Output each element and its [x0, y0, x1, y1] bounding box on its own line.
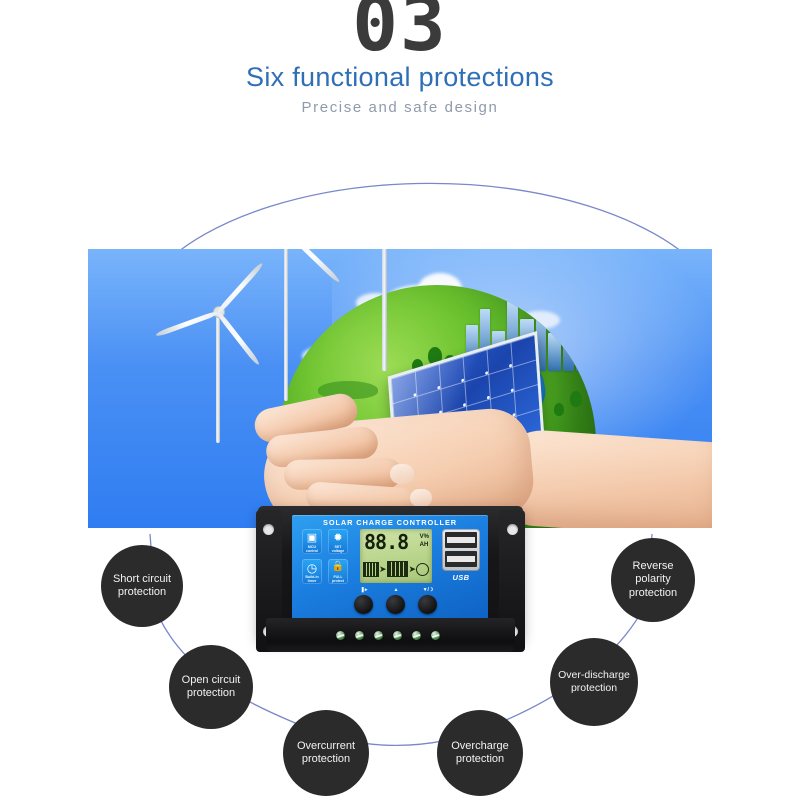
- menu-button[interactable]: [354, 595, 373, 614]
- building: [548, 333, 561, 371]
- protection-bubble-open-circuit[interactable]: Open circuit protection: [169, 645, 253, 729]
- device-title: SOLAR CHARGE CONTROLLER: [292, 518, 488, 527]
- usb-ports[interactable]: [442, 529, 480, 571]
- building: [576, 341, 591, 371]
- terminal-screw: [355, 631, 364, 640]
- mount-hole: [507, 524, 518, 535]
- battery-icon: [387, 561, 409, 577]
- protection-bubble-reverse-polarity[interactable]: Reverse polarity protection: [611, 538, 695, 622]
- gear-icon: ✹ SET voltage: [328, 529, 348, 554]
- fingernail: [410, 489, 432, 507]
- lock-icon: 🔒 FULL protect: [328, 559, 348, 584]
- down-night-button[interactable]: [418, 595, 437, 614]
- menu-button-label: ❚▸: [356, 587, 372, 593]
- lcd-flow-row: ➤ ➤: [363, 559, 429, 579]
- protection-bubble-short-circuit[interactable]: Short circuit protection: [101, 545, 183, 627]
- terminal-screw: [374, 631, 383, 640]
- device-faceplate: SOLAR CHARGE CONTROLLER ▣ MCU control ✹ …: [292, 515, 488, 619]
- terminal-screw: [393, 631, 402, 640]
- page-subtitle: Precise and safe design: [0, 99, 800, 116]
- hero-image: [88, 249, 712, 528]
- terminal-strip: [266, 618, 515, 652]
- usb-port-1[interactable]: [445, 532, 477, 548]
- terminal-screw: [412, 631, 421, 640]
- section-number: 03: [0, 0, 800, 62]
- mount-hole: [263, 524, 274, 535]
- protection-bubble-overcharge[interactable]: Overcharge protection: [437, 710, 523, 796]
- page-title: Six functional protections: [0, 62, 800, 93]
- clock-icon: ◷ Build-in timer: [302, 559, 322, 584]
- arrow-right-icon: ➤: [379, 565, 387, 574]
- solar-charge-controller: SOLAR CHARGE CONTROLLER ▣ MCU control ✹ …: [258, 506, 523, 656]
- infographic-page: 03 Six functional protections Precise an…: [0, 0, 800, 800]
- tree-icon: [554, 403, 564, 416]
- protection-bubble-over-discharge[interactable]: Over-discharge protection: [550, 638, 638, 726]
- up-button-label: ▲: [388, 587, 404, 593]
- usb-label: USB: [438, 573, 484, 582]
- usb-port-2[interactable]: [445, 551, 477, 567]
- arrow-right-icon: ➤: [408, 565, 416, 574]
- building: [563, 317, 574, 371]
- lcd-display: 88.8 V% AH ➤ ➤: [360, 529, 432, 583]
- lcd-value: 88.8: [364, 532, 408, 552]
- lcd-units: V% AH: [420, 533, 429, 549]
- tree-icon: [570, 391, 582, 407]
- fingernail: [390, 464, 414, 484]
- terminal-screw: [431, 631, 440, 640]
- lamp-icon: [416, 563, 429, 576]
- solar-panel-icon: [363, 562, 379, 577]
- protection-bubble-overcurrent[interactable]: Overcurrent protection: [283, 710, 369, 796]
- down-button-label: ▼/☽: [420, 587, 436, 593]
- mcu-chip-icon: ▣ MCU control: [302, 529, 322, 554]
- terminal-screw: [336, 631, 345, 640]
- up-button[interactable]: [386, 595, 405, 614]
